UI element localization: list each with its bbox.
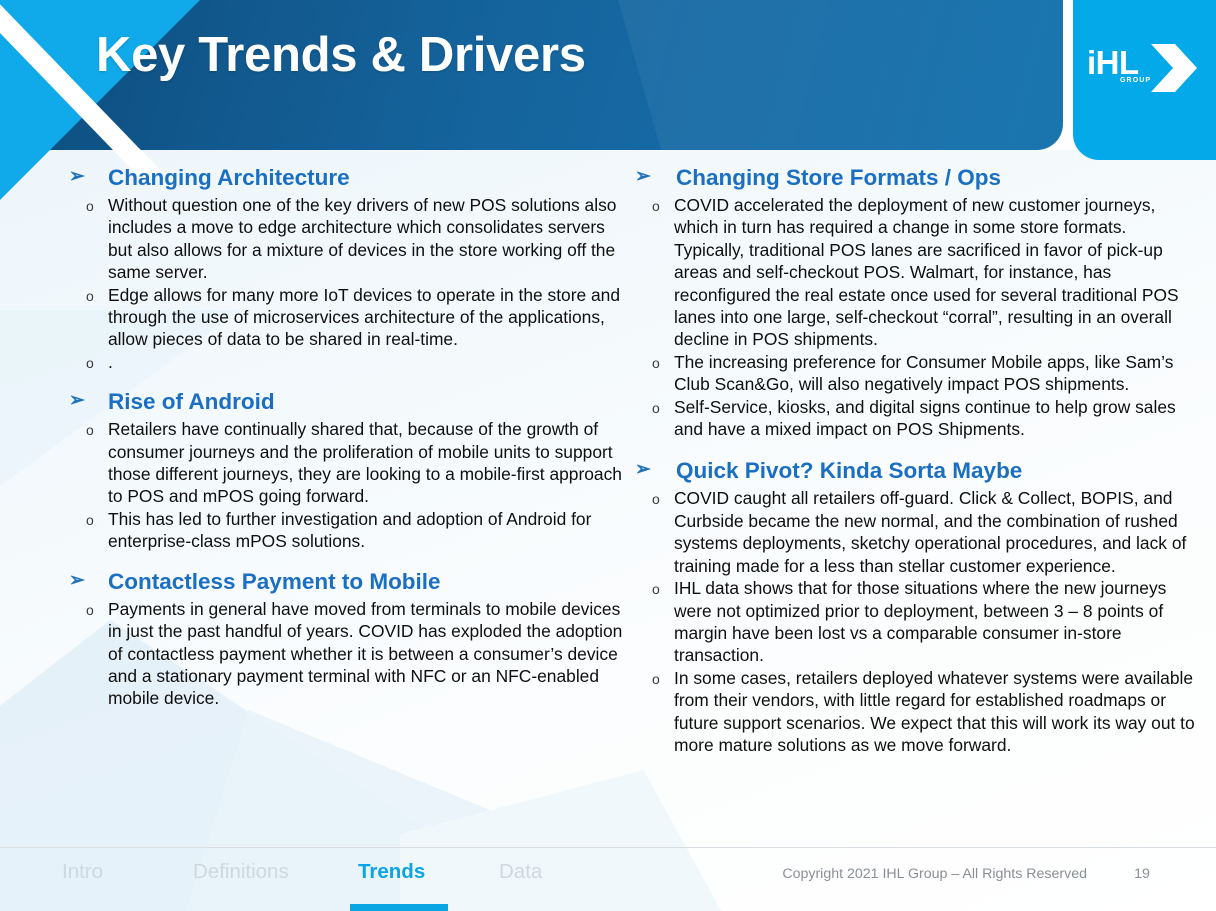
circle-bullet-icon: o — [652, 352, 666, 374]
nav-item-trends[interactable]: Trends — [358, 860, 425, 884]
list-item-text: This has led to further investigation an… — [108, 509, 591, 551]
circle-bullet-icon: o — [86, 285, 100, 307]
list-item: o Self-Service, kiosks, and digital sign… — [628, 396, 1200, 441]
page-title: Key Trends & Drivers — [96, 27, 586, 83]
nav-active-indicator — [350, 904, 448, 911]
arrow-bullet-icon: ➢ — [69, 391, 89, 411]
list-item: o Without question one of the key driver… — [62, 194, 627, 284]
footer: Intro Definitions Trends Data Copyright … — [0, 848, 1216, 911]
list-item-text: Self-Service, kiosks, and digital signs … — [674, 397, 1176, 439]
section-heading-label: Quick Pivot? Kinda Sorta Maybe — [676, 458, 1022, 483]
bullet-list: o COVID accelerated the deployment of ne… — [628, 194, 1200, 440]
nav-item-data[interactable]: Data — [499, 860, 542, 884]
bullet-list: o Payments in general have moved from te… — [62, 598, 627, 710]
list-item-text: The increasing preference for Consumer M… — [674, 352, 1173, 394]
chevron-right-icon — [1145, 42, 1201, 99]
circle-bullet-icon: o — [652, 668, 666, 690]
list-item-text: Edge allows for many more IoT devices to… — [108, 285, 620, 350]
list-item: o . — [62, 351, 627, 373]
slide-content: ➢ Changing Architecture o Without questi… — [0, 163, 1216, 843]
list-item: o Edge allows for many more IoT devices … — [62, 284, 627, 351]
list-item-text: In some cases, retailers deployed whatev… — [674, 668, 1195, 755]
slide: Key Trends & Drivers iHL GROUP ➢ Changin… — [0, 0, 1216, 911]
arrow-bullet-icon: ➢ — [635, 167, 655, 187]
list-item-text: COVID accelerated the deployment of new … — [674, 195, 1179, 349]
logo-panel: iHL GROUP — [1073, 0, 1216, 160]
circle-bullet-icon: o — [86, 509, 100, 531]
list-item-text: Without question one of the key drivers … — [108, 195, 616, 282]
arrow-bullet-icon: ➢ — [69, 167, 89, 187]
circle-bullet-icon: o — [86, 352, 100, 374]
bullet-list: o Retailers have continually shared that… — [62, 418, 627, 552]
circle-bullet-icon: o — [86, 195, 100, 217]
list-item-text: . — [108, 352, 113, 372]
ihl-logo: iHL GROUP — [1087, 46, 1205, 106]
section-heading: ➢ Changing Store Formats / Ops — [628, 163, 1200, 193]
section-heading-label: Rise of Android — [108, 389, 275, 414]
list-item: o In some cases, retailers deployed what… — [628, 667, 1200, 757]
left-column: ➢ Changing Architecture o Without questi… — [62, 163, 627, 712]
arrow-bullet-icon: ➢ — [635, 460, 655, 480]
list-item: o Retailers have continually shared that… — [62, 418, 627, 508]
section-heading: ➢ Contactless Payment to Mobile — [62, 567, 627, 597]
circle-bullet-icon: o — [86, 599, 100, 621]
section-contactless-payment: ➢ Contactless Payment to Mobile o Paymen… — [62, 567, 627, 710]
list-item: o IHL data shows that for those situatio… — [628, 577, 1200, 667]
list-item: o This has led to further investigation … — [62, 508, 627, 553]
section-rise-of-android: ➢ Rise of Android o Retailers have conti… — [62, 387, 627, 552]
section-heading: ➢ Quick Pivot? Kinda Sorta Maybe — [628, 456, 1200, 486]
circle-bullet-icon: o — [652, 195, 666, 217]
circle-bullet-icon: o — [652, 488, 666, 510]
list-item-text: COVID caught all retailers off-guard. Cl… — [674, 488, 1186, 575]
section-changing-store-formats: ➢ Changing Store Formats / Ops o COVID a… — [628, 163, 1200, 440]
list-item-text: Payments in general have moved from term… — [108, 599, 622, 709]
bullet-list: o COVID caught all retailers off-guard. … — [628, 487, 1200, 756]
list-item: o Payments in general have moved from te… — [62, 598, 627, 710]
arrow-bullet-icon: ➢ — [69, 571, 89, 591]
section-quick-pivot: ➢ Quick Pivot? Kinda Sorta Maybe o COVID… — [628, 456, 1200, 756]
bullet-list: o Without question one of the key driver… — [62, 194, 627, 373]
nav-item-intro[interactable]: Intro — [62, 860, 103, 884]
circle-bullet-icon: o — [652, 578, 666, 600]
list-item-text: Retailers have continually shared that, … — [108, 419, 622, 506]
circle-bullet-icon: o — [652, 397, 666, 419]
section-heading-label: Changing Store Formats / Ops — [676, 165, 1001, 190]
list-item-text: IHL data shows that for those situations… — [674, 578, 1166, 665]
copyright-text: Copyright 2021 IHL Group – All Rights Re… — [782, 866, 1087, 882]
circle-bullet-icon: o — [86, 419, 100, 441]
right-column: ➢ Changing Store Formats / Ops o COVID a… — [628, 163, 1200, 758]
section-heading: ➢ Rise of Android — [62, 387, 627, 417]
list-item: o COVID caught all retailers off-guard. … — [628, 487, 1200, 577]
logo-wordmark: iHL — [1087, 46, 1139, 80]
page-number: 19 — [1130, 866, 1154, 882]
nav-item-definitions[interactable]: Definitions — [193, 860, 289, 884]
section-heading-label: Contactless Payment to Mobile — [108, 569, 441, 594]
section-changing-architecture: ➢ Changing Architecture o Without questi… — [62, 163, 627, 373]
list-item: o The increasing preference for Consumer… — [628, 351, 1200, 396]
section-heading-label: Changing Architecture — [108, 165, 350, 190]
section-heading: ➢ Changing Architecture — [62, 163, 627, 193]
list-item: o COVID accelerated the deployment of ne… — [628, 194, 1200, 351]
